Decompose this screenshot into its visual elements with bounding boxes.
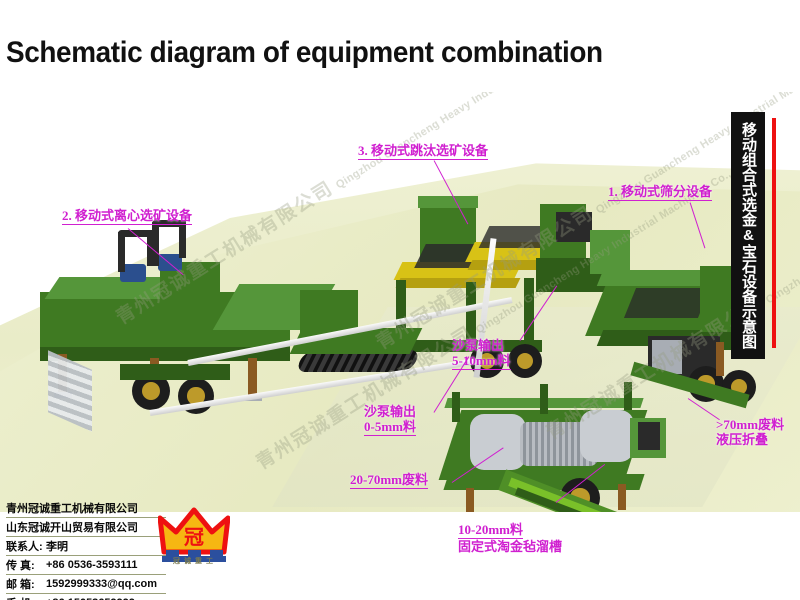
email-value: 1592999333@qq.com [46,578,157,590]
contact-person-value: 李明 [46,538,68,554]
card-divider [6,593,166,594]
callout-equip-2: 2. 移动式离心选矿设备 [62,208,192,225]
callout-sluice-line1: 10-20mm料 [458,522,523,539]
crown-logo-glyph: 冠 [184,527,204,549]
email-label: 邮 箱: [6,576,46,592]
callout-pump-0-5-line1: 沙泵输出 [364,404,416,419]
callout-equip-2-text: 2. 移动式离心选矿设备 [62,208,192,225]
callout-waste-20-70: 20-70mm废料 [350,472,428,489]
page-title: Schematic diagram of equipment combinati… [6,36,603,70]
email-row: 邮 箱: 1592999333@qq.com [6,576,234,592]
callout-pump-5-10: 沙泵输出 5-10mm料 [452,338,511,370]
fax-value: +86 0536-3593111 [46,559,137,571]
contact-person-label: 联系人: [6,538,46,554]
callout-waste-70-line2: 液压折叠 [716,432,768,447]
mobile-row: 手 机: +86 15053659999 [6,595,234,600]
logo-caption: 冠诚重工 [160,556,230,566]
callout-sluice-line2: 固定式淘金毡溜槽 [458,539,562,554]
mobile-label: 手 机: [6,595,46,600]
fax-label: 传 真: [6,557,46,573]
callout-equip-3-text: 3. 移动式跳汰选矿设备 [358,143,488,160]
card-divider [6,517,166,518]
callout-equip-1: 1. 移动式筛分设备 [608,184,712,201]
callout-equip-3: 3. 移动式跳汰选矿设备 [358,143,488,160]
callout-waste-70: >70mm废料 液压折叠 [716,417,784,447]
callout-waste-20-70-text: 20-70mm废料 [350,472,428,489]
callout-sluice: 10-20mm料 固定式淘金毡溜槽 [458,522,562,554]
callout-waste-70-line1: >70mm废料 [716,417,784,432]
callout-pump-0-5: 沙泵输出 0-5mm料 [364,404,416,436]
vertical-banner-text: 移动组合式选金&宝石设备示意图 [740,122,756,349]
callout-equip-1-text: 1. 移动式筛分设备 [608,184,712,201]
card-divider [6,536,166,537]
card-divider [6,574,166,575]
screenshot-root: Schematic diagram of equipment combinati… [0,0,800,600]
red-accent-bar [772,118,776,348]
card-divider [6,555,166,556]
callout-pump-5-10-line1: 沙泵输出 [452,338,504,353]
vertical-banner: 移动组合式选金&宝石设备示意图 [731,112,765,359]
callout-pump-0-5-line2: 0-5mm料 [364,419,416,436]
